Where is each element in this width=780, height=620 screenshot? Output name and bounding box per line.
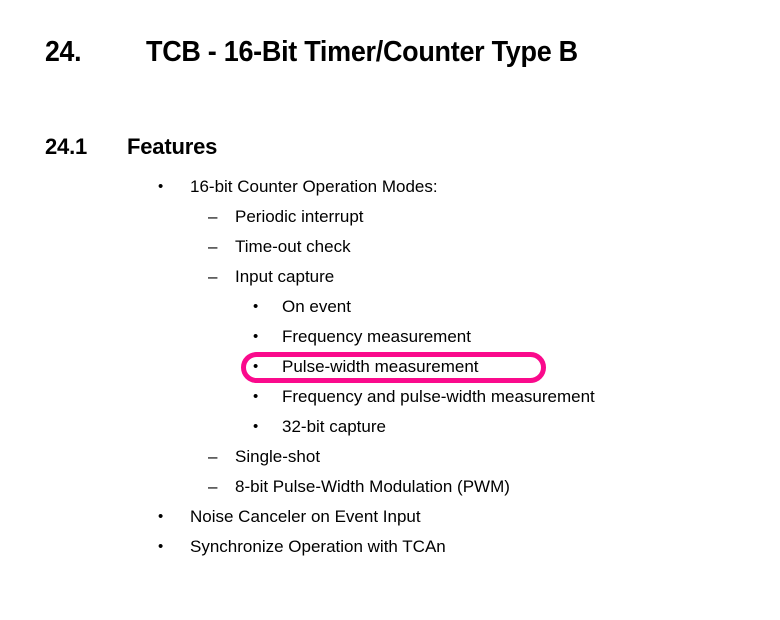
list-item-label: Periodic interrupt: [235, 202, 364, 232]
list-item-label: Synchronize Operation with TCAn: [190, 532, 446, 562]
list-item: •Frequency and pulse-width measurement: [0, 382, 780, 412]
bullet-marker-icon: •: [158, 532, 163, 562]
list-item: –Periodic interrupt: [0, 202, 780, 232]
list-item-label: Single-shot: [235, 442, 320, 472]
list-item: –Time-out check: [0, 232, 780, 262]
list-item-label: 16-bit Counter Operation Modes:: [190, 172, 438, 202]
list-item: –Input capture: [0, 262, 780, 292]
section-number: 24.1: [45, 134, 87, 160]
list-item: •Pulse-width measurement: [0, 352, 780, 382]
section-title: Features: [127, 134, 217, 160]
list-item-label: 32-bit capture: [282, 412, 386, 442]
list-item: –Single-shot: [0, 442, 780, 472]
list-item: •On event: [0, 292, 780, 322]
bullet-marker-icon: •: [253, 352, 258, 382]
list-item-label: Input capture: [235, 262, 334, 292]
chapter-heading: 24. TCB - 16-Bit Timer/Counter Type B: [45, 36, 611, 69]
dash-marker-icon: –: [208, 202, 217, 232]
list-item: •Synchronize Operation with TCAn: [0, 532, 780, 562]
bullet-marker-icon: •: [253, 322, 258, 352]
list-item: •Noise Canceler on Event Input: [0, 502, 780, 532]
list-item-label: Frequency and pulse-width measurement: [282, 382, 595, 412]
list-item-label: On event: [282, 292, 351, 322]
list-item-label: Time-out check: [235, 232, 351, 262]
dash-marker-icon: –: [208, 262, 217, 292]
dash-marker-icon: –: [208, 232, 217, 262]
list-item: •Frequency measurement: [0, 322, 780, 352]
bullet-marker-icon: •: [158, 502, 163, 532]
list-item: •16-bit Counter Operation Modes:: [0, 172, 780, 202]
features-list: •16-bit Counter Operation Modes:–Periodi…: [0, 172, 780, 562]
dash-marker-icon: –: [208, 472, 217, 502]
list-item: •32-bit capture: [0, 412, 780, 442]
bullet-marker-icon: •: [253, 412, 258, 442]
list-item-label: Pulse-width measurement: [282, 352, 479, 382]
bullet-marker-icon: •: [253, 292, 258, 322]
dash-marker-icon: –: [208, 442, 217, 472]
list-item-label: Frequency measurement: [282, 322, 471, 352]
list-item: –8-bit Pulse-Width Modulation (PWM): [0, 472, 780, 502]
list-item-label: 8-bit Pulse-Width Modulation (PWM): [235, 472, 510, 502]
document-page: 24. TCB - 16-Bit Timer/Counter Type B 24…: [0, 0, 780, 620]
chapter-title: TCB - 16-Bit Timer/Counter Type B: [146, 36, 578, 69]
bullet-marker-icon: •: [158, 172, 163, 202]
chapter-number: 24.: [45, 36, 81, 69]
section-heading: 24.1 Features: [45, 134, 217, 160]
list-item-label: Noise Canceler on Event Input: [190, 502, 421, 532]
bullet-marker-icon: •: [253, 382, 258, 412]
